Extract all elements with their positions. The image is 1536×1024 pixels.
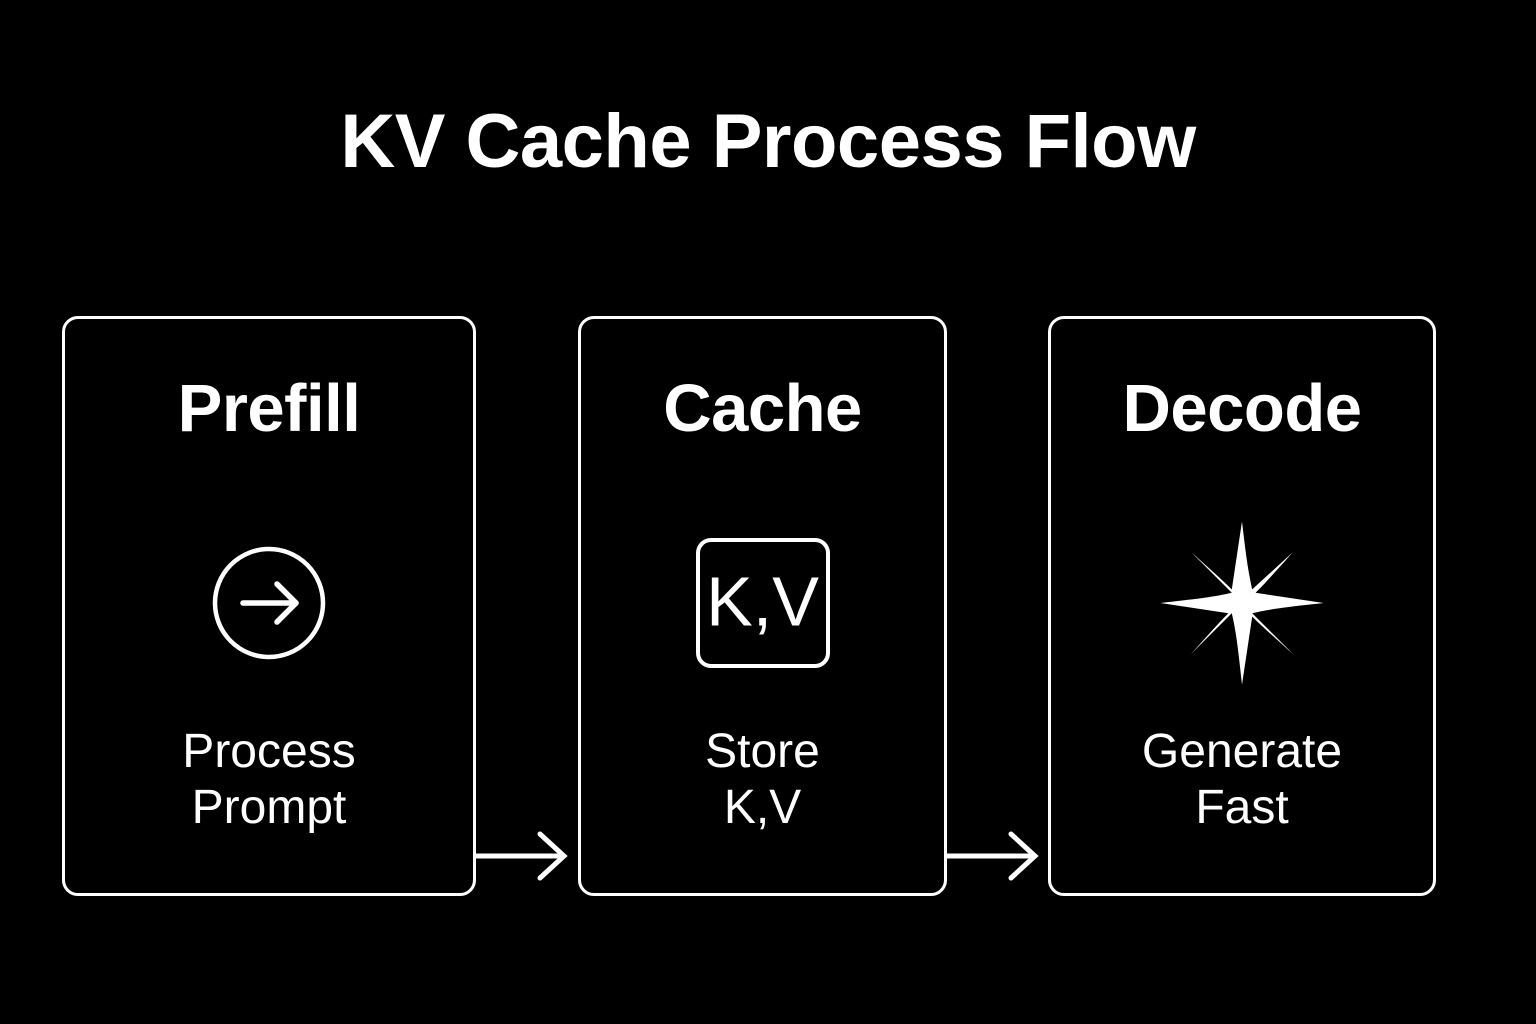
flow-step-decode[interactable]: Decode Generate Fast bbox=[1048, 316, 1436, 896]
step-icon-container: K,V bbox=[581, 515, 944, 691]
step-caption-line2: Fast bbox=[1051, 780, 1433, 836]
arrow-right-icon bbox=[947, 824, 1047, 888]
kv-box-icon: K,V bbox=[696, 538, 830, 668]
step-icon-container bbox=[65, 515, 473, 691]
step-heading: Prefill bbox=[65, 375, 473, 442]
step-caption-line2: K,V bbox=[581, 780, 944, 836]
step-icon-container bbox=[1051, 515, 1433, 691]
step-heading: Decode bbox=[1051, 375, 1433, 442]
sparkle-star-icon bbox=[1157, 518, 1327, 688]
step-heading: Cache bbox=[581, 375, 944, 442]
flow-step-cache[interactable]: Cache K,V Store K,V bbox=[578, 316, 947, 896]
step-caption-line1: Store bbox=[705, 725, 820, 778]
step-caption: Process Prompt bbox=[65, 724, 473, 835]
step-caption: Store K,V bbox=[581, 724, 944, 835]
connector-cache-to-decode bbox=[947, 824, 1047, 888]
flow-step-prefill[interactable]: Prefill Process Prompt bbox=[62, 316, 476, 896]
step-caption: Generate Fast bbox=[1051, 724, 1433, 835]
connector-prefill-to-cache bbox=[476, 824, 576, 888]
arrow-right-icon bbox=[476, 824, 576, 888]
step-caption-line1: Generate bbox=[1142, 725, 1342, 778]
page-title: KV Cache Process Flow bbox=[0, 104, 1536, 180]
process-flow: Prefill Process Prompt Cache bbox=[0, 316, 1536, 896]
diagram-canvas: KV Cache Process Flow Prefill Process Pr… bbox=[0, 0, 1536, 1024]
kv-box-label: K,V bbox=[700, 567, 826, 637]
step-caption-line1: Process bbox=[182, 725, 355, 778]
step-caption-line2: Prompt bbox=[65, 780, 473, 836]
arrow-right-circle-icon bbox=[212, 546, 326, 660]
